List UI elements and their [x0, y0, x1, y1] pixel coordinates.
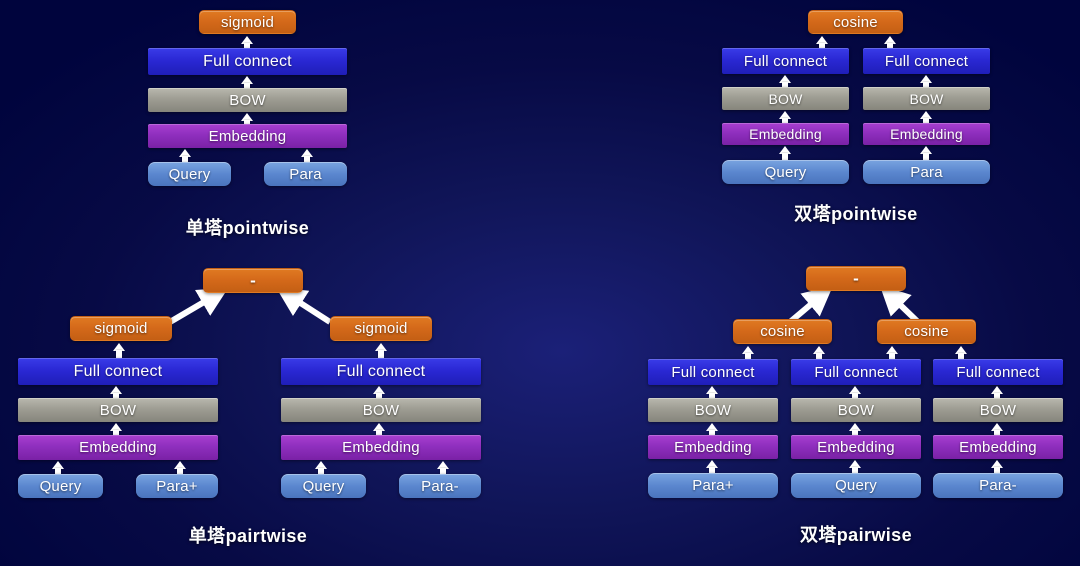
node-embedding-col1[interactable]: Embedding	[648, 435, 778, 459]
node-bow-col1[interactable]: BOW	[648, 398, 778, 422]
caption-single-tower-pairwise: 单塔pairtwise	[118, 522, 378, 548]
node-cosine-left[interactable]: cosine	[733, 319, 832, 344]
node-full-connect-left[interactable]: Full connect	[722, 48, 849, 74]
caption-dual-tower-pointwise: 双塔pointwise	[722, 200, 990, 226]
node-embedding-left[interactable]: Embedding	[722, 123, 849, 145]
node-bow-left[interactable]: BOW	[18, 398, 218, 422]
node-full-connect-right[interactable]: Full connect	[281, 358, 481, 385]
node-sigmoid-right[interactable]: sigmoid	[330, 316, 432, 341]
node-bow-left[interactable]: BOW	[722, 87, 849, 110]
node-input-para-pos[interactable]: Para+	[648, 473, 778, 498]
node-cosine[interactable]: cosine	[808, 10, 903, 34]
slide-canvas: sigmoid Full connect BOW Embedding Query…	[0, 0, 1080, 566]
arrow-cosine-left-to-minus	[790, 295, 822, 322]
node-bow-col3[interactable]: BOW	[933, 398, 1063, 422]
node-embedding-right[interactable]: Embedding	[281, 435, 481, 460]
arrow-sigmoid-left-to-minus	[170, 295, 216, 322]
node-input-para-neg[interactable]: Para-	[399, 474, 481, 498]
node-embedding-left[interactable]: Embedding	[18, 435, 218, 460]
node-embedding-right[interactable]: Embedding	[863, 123, 990, 145]
arrow-cosine-right-to-minus	[890, 295, 918, 322]
caption-dual-tower-pairwise: 双塔pairwise	[726, 521, 986, 547]
node-input-query-right[interactable]: Query	[281, 474, 366, 498]
node-input-para-neg[interactable]: Para-	[933, 473, 1063, 498]
arrow-sigmoid-right-to-minus	[288, 295, 330, 322]
node-full-connect-col2[interactable]: Full connect	[791, 359, 921, 385]
node-bow-col2[interactable]: BOW	[791, 398, 921, 422]
node-input-para-right[interactable]: Para	[863, 160, 990, 184]
node-embedding[interactable]: Embedding	[148, 124, 347, 148]
node-cosine-right[interactable]: cosine	[877, 319, 976, 344]
node-embedding-col3[interactable]: Embedding	[933, 435, 1063, 459]
node-full-connect-col1[interactable]: Full connect	[648, 359, 778, 385]
node-sigmoid[interactable]: sigmoid	[199, 10, 296, 34]
node-input-query-left[interactable]: Query	[722, 160, 849, 184]
node-bow-right[interactable]: BOW	[863, 87, 990, 110]
node-input-query-left[interactable]: Query	[18, 474, 103, 498]
node-bow[interactable]: BOW	[148, 88, 347, 112]
node-full-connect[interactable]: Full connect	[148, 48, 347, 75]
node-input-query[interactable]: Query	[791, 473, 921, 498]
node-bow-right[interactable]: BOW	[281, 398, 481, 422]
node-minus[interactable]: -	[203, 268, 303, 293]
node-input-para[interactable]: Para	[264, 162, 347, 186]
node-input-query[interactable]: Query	[148, 162, 231, 186]
node-full-connect-col3[interactable]: Full connect	[933, 359, 1063, 385]
node-embedding-col2[interactable]: Embedding	[791, 435, 921, 459]
node-sigmoid-left[interactable]: sigmoid	[70, 316, 172, 341]
caption-single-tower-pointwise: 单塔pointwise	[148, 214, 347, 240]
node-full-connect-right[interactable]: Full connect	[863, 48, 990, 74]
node-input-para-pos[interactable]: Para+	[136, 474, 218, 498]
node-full-connect-left[interactable]: Full connect	[18, 358, 218, 385]
node-minus[interactable]: -	[806, 266, 906, 291]
